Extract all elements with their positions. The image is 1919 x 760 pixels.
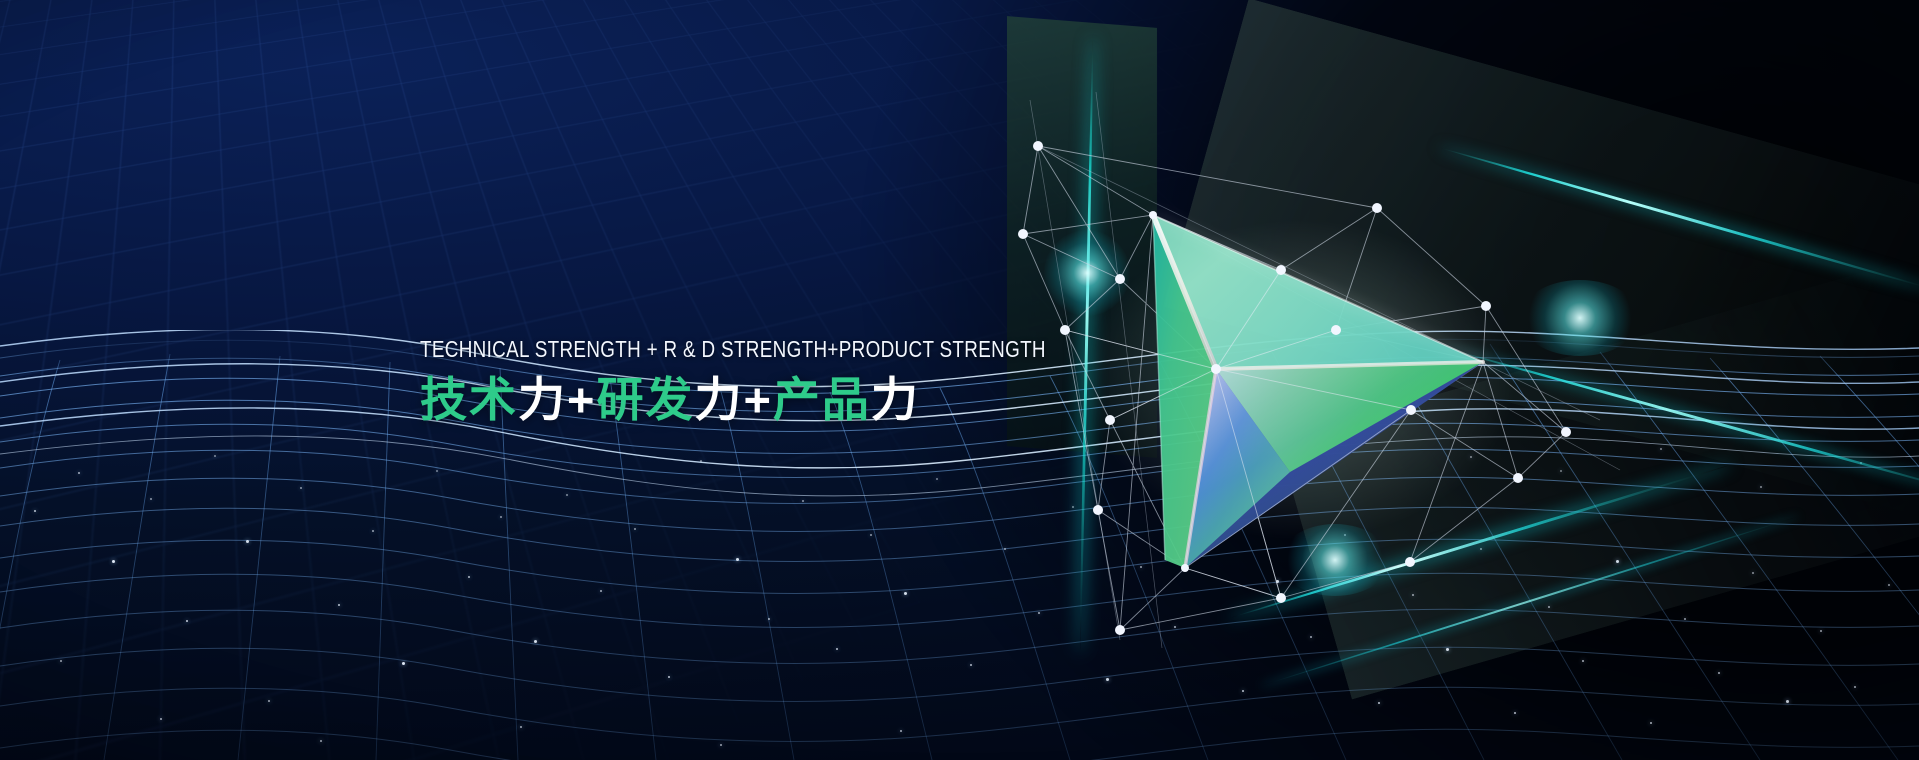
title-segment-3: 研发 <box>596 373 694 426</box>
hero-banner: TECHNICAL STRENGTH + R & D STRENGTH+PROD… <box>0 0 1919 760</box>
headline-title: 技术力+研发力+产品力 <box>420 375 1183 425</box>
title-segment-6: 力 <box>871 373 920 426</box>
title-segment-2: 力+ <box>518 373 596 426</box>
headline-block: TECHNICAL STRENGTH + R & D STRENGTH+PROD… <box>420 338 1183 425</box>
title-segment-5: 产品 <box>773 373 871 426</box>
title-segment-4: 力+ <box>694 373 772 426</box>
headline-kicker: TECHNICAL STRENGTH + R & D STRENGTH+PROD… <box>420 338 1046 361</box>
title-segment-1: 技术 <box>420 373 518 426</box>
